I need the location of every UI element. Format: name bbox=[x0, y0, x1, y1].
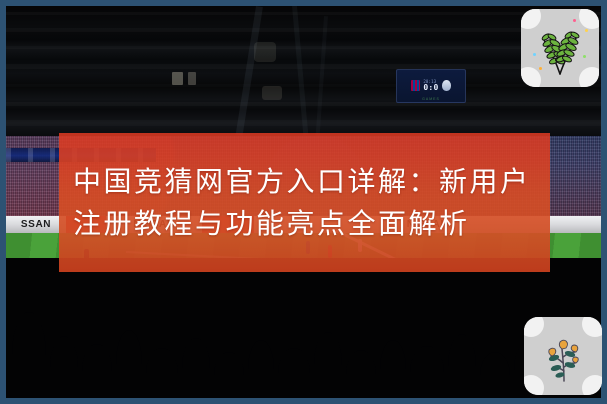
ad-segment: SSAN bbox=[6, 216, 66, 233]
roof-truss bbox=[236, 6, 263, 135]
home-crest-icon bbox=[411, 80, 420, 91]
flower-illustration bbox=[524, 317, 602, 395]
scoreboard-ticker: GAMES bbox=[397, 97, 465, 101]
title-banner: 中国竞猜网官方入口详解：新用户 注册教程与功能亮点全面解析 bbox=[59, 133, 550, 272]
roof-floodlight bbox=[262, 86, 282, 100]
flower-sprig-sticker bbox=[524, 317, 602, 395]
scoreboard-score: 0:0 bbox=[423, 84, 438, 92]
roof-floodlight bbox=[172, 72, 183, 85]
roof-truss bbox=[316, 16, 328, 136]
fern-leaves-sticker bbox=[521, 9, 599, 87]
title-line-2: 注册教程与功能亮点全面解析 bbox=[73, 203, 470, 244]
roof-floodlight bbox=[188, 72, 196, 85]
fern-illustration bbox=[521, 9, 599, 87]
poster-alt-text: Football stadium interior seen from the … bbox=[0, 0, 1, 1]
sticker-tile bbox=[524, 317, 602, 395]
scoreboard: 20:13 0:0 GAMES bbox=[396, 69, 466, 103]
away-crest-icon bbox=[442, 80, 451, 91]
roof-floodlight bbox=[254, 42, 276, 62]
foreground-spectator-silhouette bbox=[6, 258, 601, 398]
sticker-tile bbox=[521, 9, 599, 87]
roof-truss bbox=[292, 6, 308, 136]
poster-canvas: Football stadium interior seen from the … bbox=[0, 0, 607, 404]
stadium-roof bbox=[6, 6, 601, 136]
title-line-1: 中国竞猜网官方入口详解：新用户 bbox=[73, 161, 531, 202]
stadium-photograph: 20:13 0:0 GAMES SSAN NISSAN NISSAN bbox=[6, 6, 601, 398]
